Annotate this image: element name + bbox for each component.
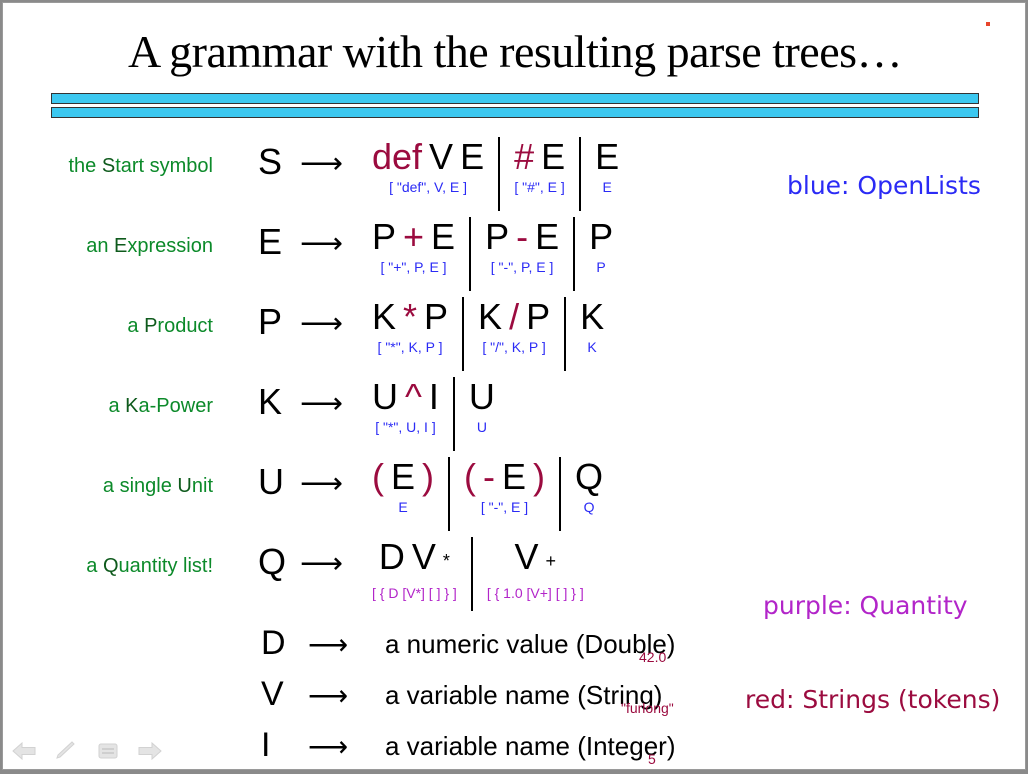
alternative-production: P+E [372, 215, 455, 259]
grammar-rule-arrow-icon: ⟶ [300, 307, 343, 341]
terminal-token: ( [464, 455, 476, 499]
alternative-annotation: E [602, 178, 611, 196]
terminal-token: + [403, 215, 424, 259]
terminal-definition-row: D⟶a numeric value (Double)42.0 [3, 623, 1026, 674]
grammar-rule-row: an ExpressionE⟶P+E[ "+", P, E ]P-E[ "-",… [3, 215, 1026, 295]
alternative-production: (-E) [464, 455, 545, 499]
nonterminal-symbol: E [391, 455, 415, 499]
nonterminal-symbol: P [372, 215, 396, 259]
grammar-rule-arrow-icon: ⟶ [300, 227, 343, 261]
grammar-rule-list: the Start symbolS⟶defVE[ "def", V, E ]#E… [3, 135, 1026, 615]
title-rule-bar-bottom [51, 107, 979, 118]
terminal-description: a variable name (Integer) [385, 730, 675, 762]
alternative-annotation: E [398, 498, 407, 516]
grammar-rule-lhs: P [258, 301, 282, 343]
grammar-alternatives: defVE[ "def", V, E ]#E[ "#", E ]EE [358, 135, 633, 211]
grammar-alternatives: K*P[ "*", K, P ]K/P[ "/", K, P ]KK [358, 295, 618, 371]
terminal-token: - [516, 215, 528, 259]
alternative-annotation: U [477, 418, 487, 436]
slideshow-navigation-bar [11, 741, 163, 761]
nonterminal-symbol: V [412, 535, 436, 579]
alternative-production: defVE [372, 135, 484, 179]
grammar-alternative: UU [455, 375, 509, 436]
nonterminal-symbol: P [485, 215, 509, 259]
alternative-production: V+ [515, 535, 557, 585]
grammar-rule-label: a Quantity list! [3, 555, 213, 578]
grammar-alternatives: DV*[ { D [V*] [ ] } ]V+[ { 1.0 [V+] [ ] … [358, 535, 598, 611]
grammar-alternative: PP [575, 215, 627, 276]
page-title: A grammar with the resulting parse trees… [3, 23, 1026, 81]
nonterminal-symbol: P [526, 295, 550, 339]
grammar-rule-row: a single UnitU⟶(E)E(-E)[ "-", E ]QQ [3, 455, 1026, 535]
terminal-arrow-icon: ⟶ [308, 680, 348, 712]
alternative-production: U [469, 375, 495, 419]
nonterminal-symbol: V [515, 535, 539, 579]
nonterminal-symbol: U [372, 375, 398, 419]
grammar-alternative: (-E)[ "-", E ] [450, 455, 559, 516]
grammar-rule-label: the Start symbol [3, 155, 213, 178]
alternative-production: K [580, 295, 604, 339]
alternative-annotation: [ "*", K, P ] [378, 338, 443, 356]
alternative-annotation: K [587, 338, 596, 356]
grammar-alternative: V+[ { 1.0 [V+] [ ] } ] [473, 535, 598, 602]
grammar-alternative: #E[ "#", E ] [500, 135, 579, 196]
alternative-annotation: [ "*", U, I ] [375, 418, 436, 436]
title-rule-bars [51, 93, 979, 118]
grammar-rule-label: a single Unit [3, 475, 213, 498]
terminal-token: ) [533, 455, 545, 499]
alternative-annotation: [ "-", E ] [481, 498, 528, 516]
nonterminal-symbol: E [595, 135, 619, 179]
grammar-rule-arrow-icon: ⟶ [300, 467, 343, 501]
grammar-rule-row: a ProductP⟶K*P[ "*", K, P ]K/P[ "/", K, … [3, 295, 1026, 375]
nonterminal-symbol: P [589, 215, 613, 259]
terminal-lhs: V [261, 674, 284, 714]
grammar-rule-label: a Ka-Power [3, 395, 213, 418]
legend-openlists: blue: OpenLists [787, 171, 981, 200]
legend-quantity: purple: Quantity [763, 591, 968, 620]
alternative-production: Q [575, 455, 603, 499]
grammar-rule-row: a Ka-PowerK⟶U^I[ "*", U, I ]UU [3, 375, 1026, 455]
terminal-token: ^ [405, 375, 422, 419]
nonterminal-symbol: P [424, 295, 448, 339]
nonterminal-symbol: V [429, 135, 453, 179]
terminal-token: ) [422, 455, 434, 499]
grammar-rule-label: an Expression [3, 235, 213, 258]
grammar-alternative: P-E[ "-", P, E ] [471, 215, 573, 276]
grammar-rule-label: a Product [3, 315, 213, 338]
grammar-alternative: K*P[ "*", K, P ] [358, 295, 462, 356]
alternative-production: E [595, 135, 619, 179]
nonterminal-symbol: K [478, 295, 502, 339]
terminal-token: - [483, 455, 495, 499]
alternative-production: (E) [372, 455, 434, 499]
alternative-production: K*P [372, 295, 448, 339]
grammar-alternative: KK [566, 295, 618, 356]
grammar-alternatives: U^I[ "*", U, I ]UU [358, 375, 509, 451]
grammar-alternative: DV*[ { D [V*] [ ] } ] [358, 535, 471, 602]
grammar-rule-lhs: U [258, 461, 284, 503]
alternative-annotation: [ "-", P, E ] [491, 258, 554, 276]
nonterminal-symbol: Q [575, 455, 603, 499]
alternative-production: U^I [372, 375, 439, 419]
alternative-production: P-E [485, 215, 559, 259]
grammar-rule-lhs: S [258, 141, 282, 183]
grammar-rule-lhs: E [258, 221, 282, 263]
nonterminal-symbol: E [460, 135, 484, 179]
grammar-alternative: U^I[ "*", U, I ] [358, 375, 453, 436]
alternative-annotation: [ { D [V*] [ ] } ] [372, 584, 457, 602]
grammar-alternative: (E)E [358, 455, 448, 516]
pen-icon[interactable] [53, 741, 79, 761]
repetition-operator: + [546, 539, 557, 583]
terminal-example-value: "furlong" [621, 700, 674, 716]
notes-icon[interactable] [95, 741, 121, 761]
alternative-annotation: [ "+", P, E ] [380, 258, 446, 276]
legend-strings: red: Strings (tokens) [745, 685, 1000, 714]
alternative-production: K/P [478, 295, 550, 339]
alternative-annotation: Q [584, 498, 595, 516]
nonterminal-symbol: E [535, 215, 559, 259]
slide-canvas: A grammar with the resulting parse trees… [2, 2, 1026, 770]
alternative-annotation: P [596, 258, 605, 276]
nonterminal-symbol: E [502, 455, 526, 499]
nonterminal-symbol: E [431, 215, 455, 259]
grammar-rule-lhs: K [258, 381, 282, 423]
alternative-annotation: [ { 1.0 [V+] [ ] } ] [487, 584, 584, 602]
terminal-token: * [403, 295, 417, 339]
grammar-alternative: K/P[ "/", K, P ] [464, 295, 564, 356]
alternative-annotation: [ "/", K, P ] [482, 338, 545, 356]
alternative-annotation: [ "#", E ] [514, 178, 564, 196]
nonterminal-symbol: K [372, 295, 396, 339]
terminal-arrow-icon: ⟶ [308, 731, 348, 763]
back-arrow-icon[interactable] [11, 741, 37, 761]
grammar-alternatives: P+E[ "+", P, E ]P-E[ "-", P, E ]PP [358, 215, 627, 291]
nonterminal-symbol: K [580, 295, 604, 339]
alternative-production: #E [514, 135, 565, 179]
terminal-example-value: 42.0 [639, 649, 666, 665]
grammar-alternative: defVE[ "def", V, E ] [358, 135, 498, 196]
grammar-alternative: QQ [561, 455, 617, 516]
terminal-arrow-icon: ⟶ [308, 629, 348, 661]
grammar-rule-lhs: Q [258, 541, 286, 583]
grammar-alternative: P+E[ "+", P, E ] [358, 215, 469, 276]
nonterminal-symbol: D [379, 535, 405, 579]
terminal-token: # [514, 135, 534, 179]
alternative-production: P [589, 215, 613, 259]
terminal-example-value: 5 [648, 751, 656, 767]
grammar-alternatives: (E)E(-E)[ "-", E ]QQ [358, 455, 617, 531]
nonterminal-symbol: E [541, 135, 565, 179]
alternative-production: DV* [379, 535, 450, 585]
nonterminal-symbol: U [469, 375, 495, 419]
repetition-operator: * [443, 539, 450, 583]
alternative-annotation: [ "def", V, E ] [389, 178, 467, 196]
forward-arrow-icon[interactable] [137, 741, 163, 761]
grammar-rule-arrow-icon: ⟶ [300, 387, 343, 421]
grammar-rule-arrow-icon: ⟶ [300, 547, 343, 581]
title-rule-bar-top [51, 93, 979, 104]
terminal-token: def [372, 135, 422, 179]
terminal-lhs: D [261, 623, 286, 663]
terminal-lhs: I [261, 725, 270, 765]
terminal-description: a numeric value (Double) [385, 628, 675, 660]
grammar-alternative: EE [581, 135, 633, 196]
terminal-token: ( [372, 455, 384, 499]
grammar-rule-arrow-icon: ⟶ [300, 147, 343, 181]
terminal-token: / [509, 295, 519, 339]
nonterminal-symbol: I [429, 375, 439, 419]
